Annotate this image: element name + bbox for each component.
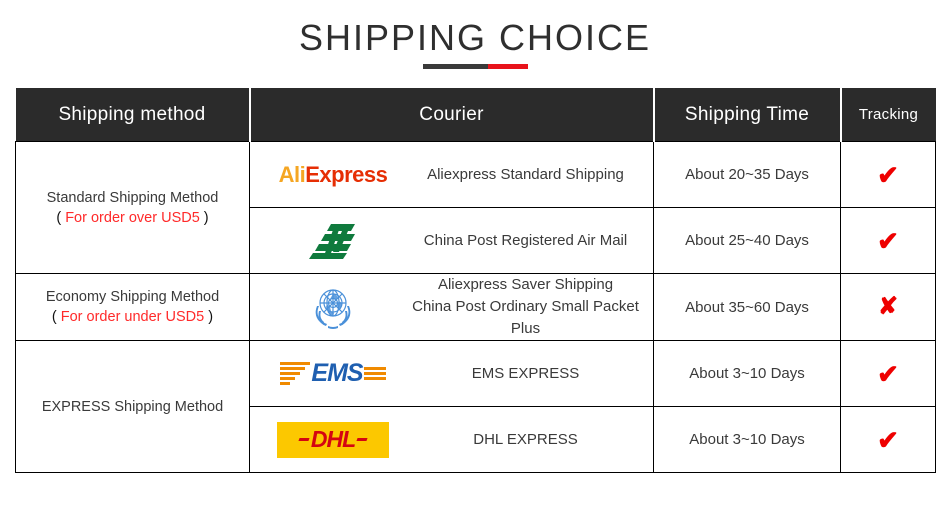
- table-row: Economy Shipping Method ( For order unde…: [16, 274, 936, 341]
- header-shipping-method: Shipping method: [16, 88, 250, 142]
- courier-cell-aliexpress-saver: Aliexpress Saver Shipping China Post Ord…: [250, 274, 654, 341]
- table-body: Standard Shipping Method ( For order ove…: [16, 142, 936, 473]
- china-post-logo-glyph: [305, 222, 361, 260]
- method-standard-note: ( For order over USD5 ): [20, 208, 245, 228]
- courier-cell-china-post-registered: China Post Registered Air Mail: [250, 208, 654, 274]
- aliexpress-logo-ali: Ali: [279, 162, 306, 187]
- courier-cell-aliexpress: AliExpress Aliexpress Standard Shipping: [250, 142, 654, 208]
- dhl-logo: DHL: [258, 422, 408, 458]
- courier-name-ems: EMS EXPRESS: [408, 363, 653, 385]
- header-shipping-time: Shipping Time: [654, 88, 841, 142]
- tracking-check-icon: ✔: [877, 425, 899, 455]
- page-title-block: SHIPPING CHOICE: [0, 0, 950, 69]
- time-cell-ems: About 3~10 Days: [654, 341, 841, 407]
- dhl-logo-dash-left: [298, 438, 309, 441]
- tracking-cross-icon: ✘: [878, 293, 898, 320]
- ems-logo-word: EMS: [311, 359, 362, 388]
- tracking-check-icon: ✔: [877, 160, 899, 190]
- courier-cell-ems: EMS EMS EXPRESS: [250, 341, 654, 407]
- paren-open: (: [52, 309, 61, 325]
- shipping-table-wrap: Shipping method Courier Shipping Time Tr…: [15, 88, 935, 470]
- united-nations-logo: [258, 284, 408, 330]
- tracking-cell-aliexpress-standard: ✔: [841, 142, 936, 208]
- method-cell-standard: Standard Shipping Method ( For order ove…: [16, 142, 250, 274]
- ems-logo-stripes-right: [364, 367, 386, 380]
- tracking-cell-china-post-registered: ✔: [841, 208, 936, 274]
- courier-name-line-1: Aliexpress Saver Shipping: [408, 274, 643, 296]
- courier-name-china-post-registered: China Post Registered Air Mail: [408, 230, 653, 252]
- header-tracking: Tracking: [841, 88, 936, 142]
- table-header: Shipping method Courier Shipping Time Tr…: [16, 88, 936, 142]
- header-shipping-time-label: Shipping Time: [685, 104, 809, 125]
- method-express-title: EXPRESS Shipping Method: [20, 397, 245, 417]
- time-cell-aliexpress-standard: About 20~35 Days: [654, 142, 841, 208]
- courier-cell-dhl: DHL DHL EXPRESS: [250, 407, 654, 473]
- ems-logo-stripes-left: [280, 362, 310, 385]
- tracking-cell-dhl: ✔: [841, 407, 936, 473]
- tracking-check-icon: ✔: [877, 226, 899, 256]
- title-underline-dark: [423, 64, 488, 69]
- table-row: Standard Shipping Method ( For order ove…: [16, 142, 936, 208]
- courier-name-aliexpress-saver: Aliexpress Saver Shipping China Post Ord…: [408, 274, 653, 340]
- time-cell-china-post-registered: About 25~40 Days: [654, 208, 841, 274]
- method-cell-economy: Economy Shipping Method ( For order unde…: [16, 274, 250, 341]
- courier-name-line-2: China Post Ordinary Small Packet Plus: [408, 296, 643, 340]
- aliexpress-logo: AliExpress: [258, 162, 408, 188]
- dhl-logo-text: DHL: [311, 426, 355, 453]
- paren-open: (: [56, 210, 65, 226]
- courier-name-dhl: DHL EXPRESS: [408, 429, 653, 451]
- shipping-table: Shipping method Courier Shipping Time Tr…: [15, 88, 936, 473]
- page-title: SHIPPING CHOICE: [0, 18, 950, 58]
- china-post-logo: [258, 222, 408, 260]
- header-courier-label: Courier: [419, 104, 483, 125]
- header-shipping-method-label: Shipping method: [58, 104, 205, 125]
- method-economy-title: Economy Shipping Method: [20, 287, 245, 307]
- dhl-logo-dash-right: [357, 438, 368, 441]
- table-row: EXPRESS Shipping Method EMS: [16, 341, 936, 407]
- time-cell-aliexpress-saver: About 35~60 Days: [654, 274, 841, 341]
- table-header-row: Shipping method Courier Shipping Time Tr…: [16, 88, 936, 142]
- method-economy-note: ( For order under USD5 ): [20, 307, 245, 327]
- courier-name-aliexpress-standard: Aliexpress Standard Shipping: [408, 164, 653, 186]
- time-cell-dhl: About 3~10 Days: [654, 407, 841, 473]
- ems-logo: EMS: [258, 357, 408, 391]
- header-tracking-label: Tracking: [859, 106, 918, 123]
- method-cell-express: EXPRESS Shipping Method: [16, 341, 250, 473]
- paren-close: ): [204, 309, 213, 325]
- method-standard-note-text: For order over USD5: [65, 210, 200, 226]
- method-economy-note-text: For order under USD5: [61, 309, 204, 325]
- title-underline: [423, 64, 528, 69]
- title-underline-red: [488, 64, 528, 69]
- method-standard-title: Standard Shipping Method: [20, 188, 245, 208]
- header-courier: Courier: [250, 88, 654, 142]
- united-nations-logo-glyph: [307, 284, 359, 330]
- tracking-cell-aliexpress-saver: ✘: [841, 274, 936, 341]
- paren-close: ): [200, 210, 209, 226]
- tracking-check-icon: ✔: [877, 359, 899, 389]
- tracking-cell-ems: ✔: [841, 341, 936, 407]
- ems-logo-text: EMS: [311, 359, 362, 387]
- aliexpress-logo-express: Express: [305, 162, 387, 187]
